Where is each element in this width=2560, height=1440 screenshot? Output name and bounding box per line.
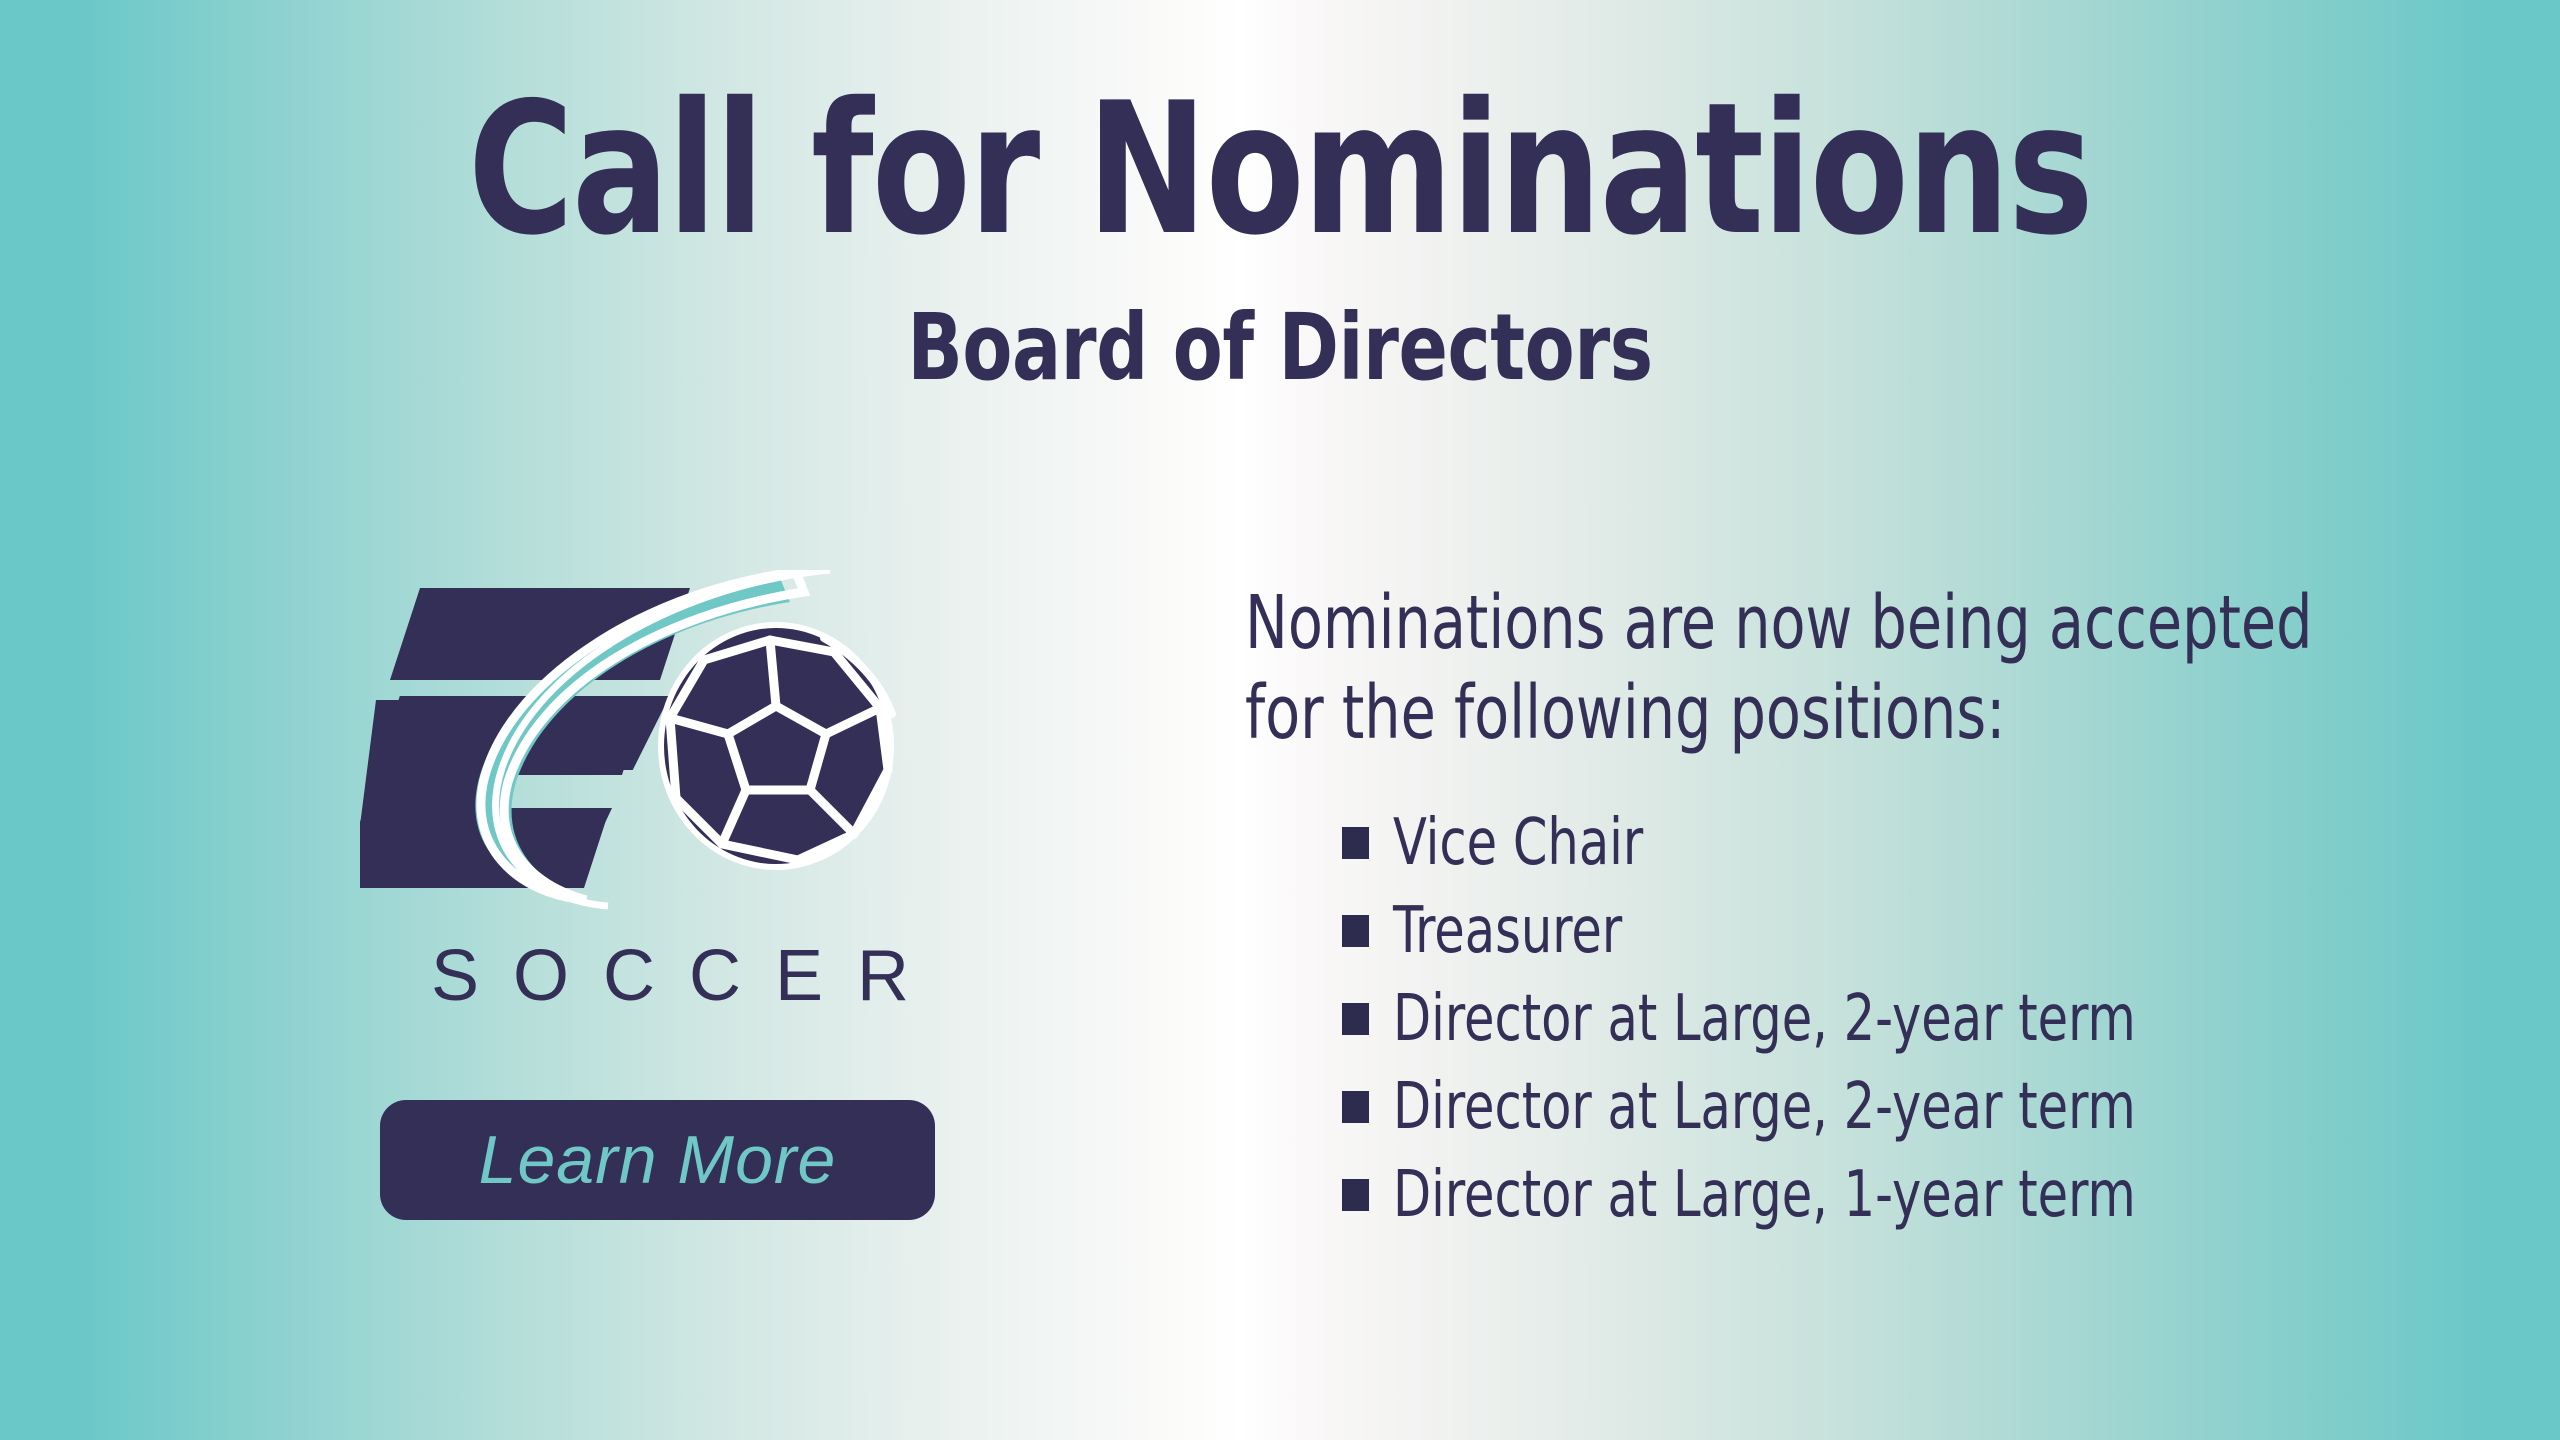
position-label: Director at Large, 2-year term [1393,987,2136,1051]
positions-list: Vice Chair Treasurer Director at Large, … [1245,807,2425,1231]
position-label: Director at Large, 2-year term [1393,1075,2136,1139]
heading-block: Call for Nominations Board of Directors [0,78,2560,394]
page-subtitle: Board of Directors [154,302,2407,394]
square-bullet-icon [1342,827,1369,859]
lede-line-1: Nominations are now being accepted [1245,578,2260,668]
list-item: Vice Chair [1342,807,2425,879]
list-item: Director at Large, 1-year term [1342,1159,2425,1231]
poster-canvas: Call for Nominations Board of Directors [0,0,2560,1440]
position-label: Director at Large, 1-year term [1393,1163,2136,1227]
position-label: Treasurer [1393,899,1622,963]
list-item: Director at Large, 2-year term [1342,983,2425,1055]
square-bullet-icon [1342,1003,1369,1035]
logo-block: SOCCER Learn More [360,570,1020,1270]
logo-wordmark: SOCCER [360,940,980,1012]
learn-more-button[interactable]: Learn More [380,1100,935,1220]
page-title: Call for Nominations [154,78,2407,260]
learn-more-label: Learn More [479,1126,837,1194]
lede-line-2: for the following positions: [1245,668,2260,758]
lede-paragraph: Nominations are now being accepted for t… [1245,578,2260,759]
square-bullet-icon [1342,1091,1369,1123]
square-bullet-icon [1342,915,1369,947]
list-item: Director at Large, 2-year term [1342,1071,2425,1143]
square-bullet-icon [1342,1179,1369,1211]
position-label: Vice Chair [1393,811,1643,875]
nominations-content: Nominations are now being accepted for t… [1245,578,2425,1247]
list-item: Treasurer [1342,895,2425,967]
e-soccer-ball-swoosh-logo-icon [360,570,1020,910]
